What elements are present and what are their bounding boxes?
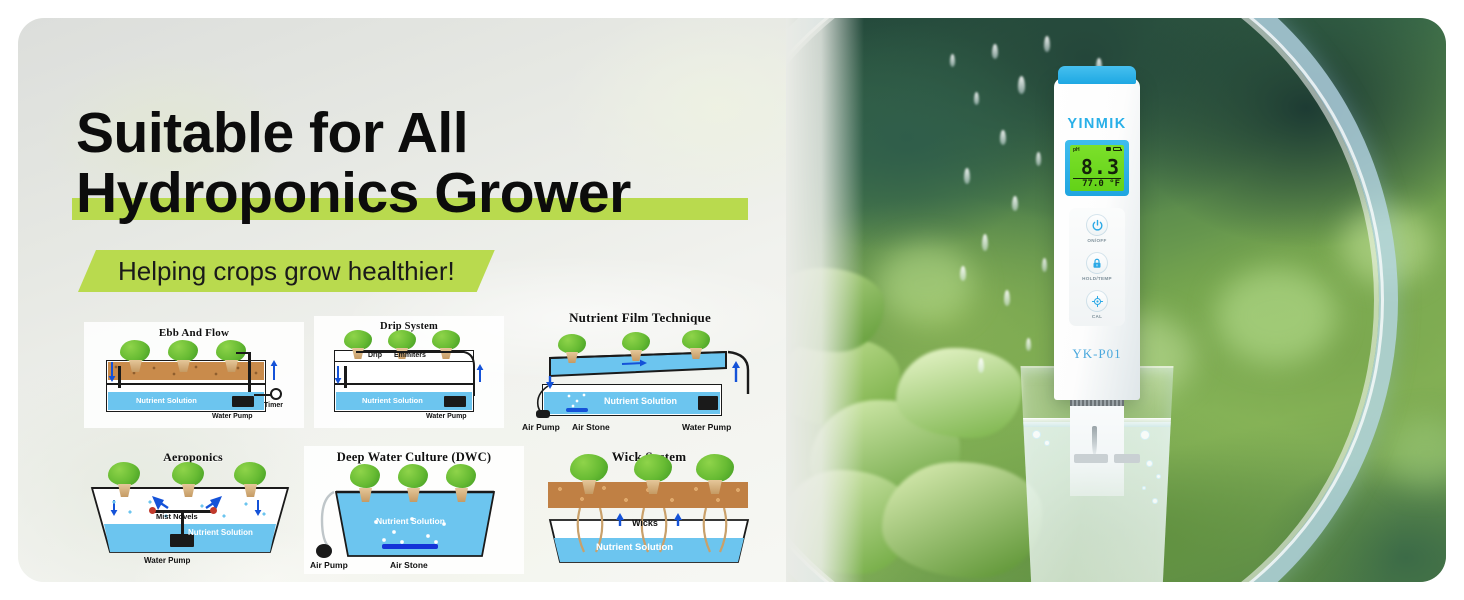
air-pump [536, 410, 550, 418]
water-droplet [1018, 76, 1025, 94]
probe-electrode-tip [1092, 426, 1097, 456]
water-droplet [992, 44, 998, 59]
label-nutrient-solution: Nutrient Solution [604, 396, 677, 406]
nozzle [149, 507, 156, 514]
water-droplet [978, 358, 984, 373]
water-droplet [1004, 290, 1010, 306]
label-wicks: Wicks [632, 518, 658, 528]
bokeh-highlight [1341, 206, 1433, 284]
hold-temp-button-label: HOLD/TEMP [1069, 276, 1125, 281]
device-probe [1070, 400, 1124, 496]
label-air-pump: Air Pump [522, 422, 560, 432]
headline-line-2: Hydroponics Grower [76, 164, 631, 222]
drip-line [314, 316, 504, 428]
label-water-pump: Water Pump [144, 556, 190, 565]
water-droplet [974, 92, 979, 105]
air-bubble [1032, 430, 1041, 439]
lcd-bezel: pH 8.3 77.0 °F [1065, 140, 1129, 196]
nft-channel [514, 308, 766, 436]
label-air-pump: Air Pump [310, 560, 348, 570]
label-water-pump: Water Pump [682, 422, 731, 432]
bubbles [564, 392, 592, 410]
water-droplet [950, 54, 955, 67]
air-bubble [1142, 486, 1146, 490]
air-pump [316, 544, 332, 558]
lettuce-leaf [786, 268, 884, 352]
cal-button[interactable]: CAL [1069, 290, 1125, 319]
air-bubble [1044, 440, 1050, 446]
bokeh-highlight [878, 244, 974, 322]
subtitle-block: Helping crops grow healthier! [78, 250, 495, 292]
lcd-unit-label: pH [1073, 147, 1080, 153]
device-model-label: YK-P01 [1054, 346, 1140, 362]
promo-banner: YINMIK pH 8.3 77.0 °F [18, 18, 1446, 582]
diagram-wick-system: Wick System [534, 446, 764, 574]
lcd-ph-value: 8.3 [1081, 155, 1120, 179]
flow-arrows [84, 322, 304, 428]
water-droplet [1042, 258, 1047, 272]
hold-temp-button[interactable]: HOLD/TEMP [1069, 252, 1125, 281]
lcd-temperature: 77.0 °F [1082, 179, 1120, 189]
lock-icon [1086, 252, 1108, 274]
diagram-art: Mist Novels Nutrient Solution Water Pump [82, 448, 304, 574]
label-timer: Timer [264, 402, 283, 409]
diagram-art: Nutrient Solution Air Pump Air Stone [304, 446, 524, 574]
water-droplet [982, 234, 988, 251]
air-bubble [1152, 498, 1158, 504]
power-icon [1086, 214, 1108, 236]
water-droplet [964, 168, 970, 184]
nozzle [210, 507, 217, 514]
label-nutrient-solution: Nutrient Solution [136, 396, 197, 405]
water-droplet [1026, 338, 1031, 351]
headline-line-1: Suitable for All [76, 104, 631, 162]
lettuce-leaf [882, 462, 1042, 578]
headline-block: Suitable for All Hydroponics Grower [76, 104, 631, 222]
label-air-stone: Air Stone [572, 422, 610, 432]
label-emmiters: Emmiters [394, 352, 426, 359]
diagram-drip-system: Drip System Drip Emmiters Nutrient So [314, 316, 504, 428]
air-bubble [1140, 430, 1150, 440]
diagram-deep-water-culture: Deep Water Culture (DWC) Nutrient Soluti… [304, 446, 524, 574]
diagram-art: Wicks Nutrient Solution [534, 446, 764, 574]
label-nutrient-solution: Nutrient Solution [376, 516, 445, 526]
diagram-nutrient-film-technique: Nutrient Film Technique [514, 308, 766, 436]
probe-band [1070, 400, 1124, 406]
hold-indicator-icon [1106, 147, 1111, 151]
device-brand-logo: YINMIK [1054, 116, 1140, 132]
water-droplet [1012, 196, 1018, 211]
label-air-stone: Air Stone [390, 560, 428, 570]
diagram-art: Nutrient Solution Timer Water Pump [84, 322, 304, 428]
label-mist-novels: Mist Novels [156, 512, 198, 521]
subtitle-banner: Helping crops grow healthier! [78, 250, 495, 292]
target-icon [1086, 290, 1108, 312]
water-pump [444, 396, 466, 407]
bokeh-highlight [1216, 268, 1336, 364]
diagram-art: Nutrient Solution Air Pump Air Stone Wat… [514, 308, 766, 436]
hydroponics-diagram-grid: Ebb And Flow [36, 308, 776, 580]
power-button[interactable]: ON/OFF [1069, 214, 1125, 243]
label-water-pump: Water Pump [212, 413, 253, 420]
diagram-ebb-and-flow: Ebb And Flow [84, 322, 304, 428]
label-drip: Drip [368, 352, 382, 359]
label-nutrient-solution: Nutrient Solution [596, 542, 673, 553]
water-droplet [1000, 130, 1006, 145]
device-cap [1058, 66, 1136, 84]
water-droplet [1036, 152, 1041, 166]
air-bubble [1146, 460, 1153, 467]
probe-foot [1074, 454, 1108, 463]
water-droplet [1044, 36, 1050, 52]
lcd-display: pH 8.3 77.0 °F [1070, 145, 1124, 191]
cal-button-label: CAL [1069, 314, 1125, 319]
water-pump [698, 396, 718, 410]
button-pad: ON/OFF HOLD/TEMP [1069, 208, 1125, 326]
diagram-art: Drip Emmiters Nutrient Solution Water Pu… [314, 316, 504, 428]
diagram-aeroponics: Aeroponics [82, 448, 304, 574]
battery-icon [1113, 147, 1121, 151]
bokeh-highlight [1386, 418, 1446, 488]
product-photo-panel: YINMIK pH 8.3 77.0 °F [786, 18, 1446, 582]
headline-line-2-text: Hydroponics Grower [76, 161, 631, 225]
label-nutrient-solution: Nutrient Solution [188, 528, 253, 537]
probe-foot [1114, 454, 1140, 463]
lcd-status-icons [1106, 147, 1121, 151]
water-droplet [960, 266, 966, 281]
label-water-pump: Water Pump [426, 413, 467, 420]
air-bubble [1156, 474, 1161, 479]
lettuce-leaf [896, 348, 1022, 438]
power-button-label: ON/OFF [1069, 238, 1125, 243]
label-nutrient-solution: Nutrient Solution [362, 396, 423, 405]
